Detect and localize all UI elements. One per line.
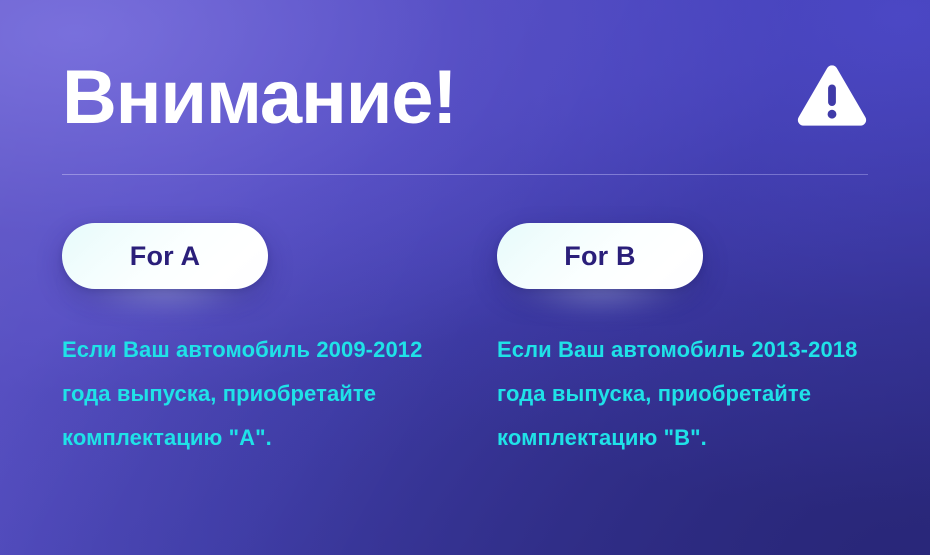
option-a-button-wrap: For A <box>62 223 268 289</box>
option-a-description: Если Ваш автомобиль 2009-2012 года выпус… <box>62 328 442 460</box>
banner-content: Внимание! For A Если Ваш автомобиль 20 <box>62 0 868 555</box>
option-b-button-wrap: For B <box>497 223 703 289</box>
for-a-button-label: For A <box>130 243 201 270</box>
for-a-button[interactable]: For A <box>62 223 268 289</box>
header-divider <box>62 174 868 175</box>
for-b-button-label: For B <box>564 243 636 270</box>
warning-triangle-icon <box>796 64 868 130</box>
option-a: For A Если Ваш автомобиль 2009-2012 года… <box>62 223 442 289</box>
page-title: Внимание! <box>62 55 456 140</box>
option-b: For B Если Ваш автомобиль 2013-2018 года… <box>497 223 877 289</box>
option-b-description: Если Ваш автомобиль 2013-2018 года выпус… <box>497 328 877 460</box>
warning-banner: Внимание! For A Если Ваш автомобиль 20 <box>0 0 930 555</box>
for-b-button[interactable]: For B <box>497 223 703 289</box>
banner-header: Внимание! <box>62 55 868 140</box>
